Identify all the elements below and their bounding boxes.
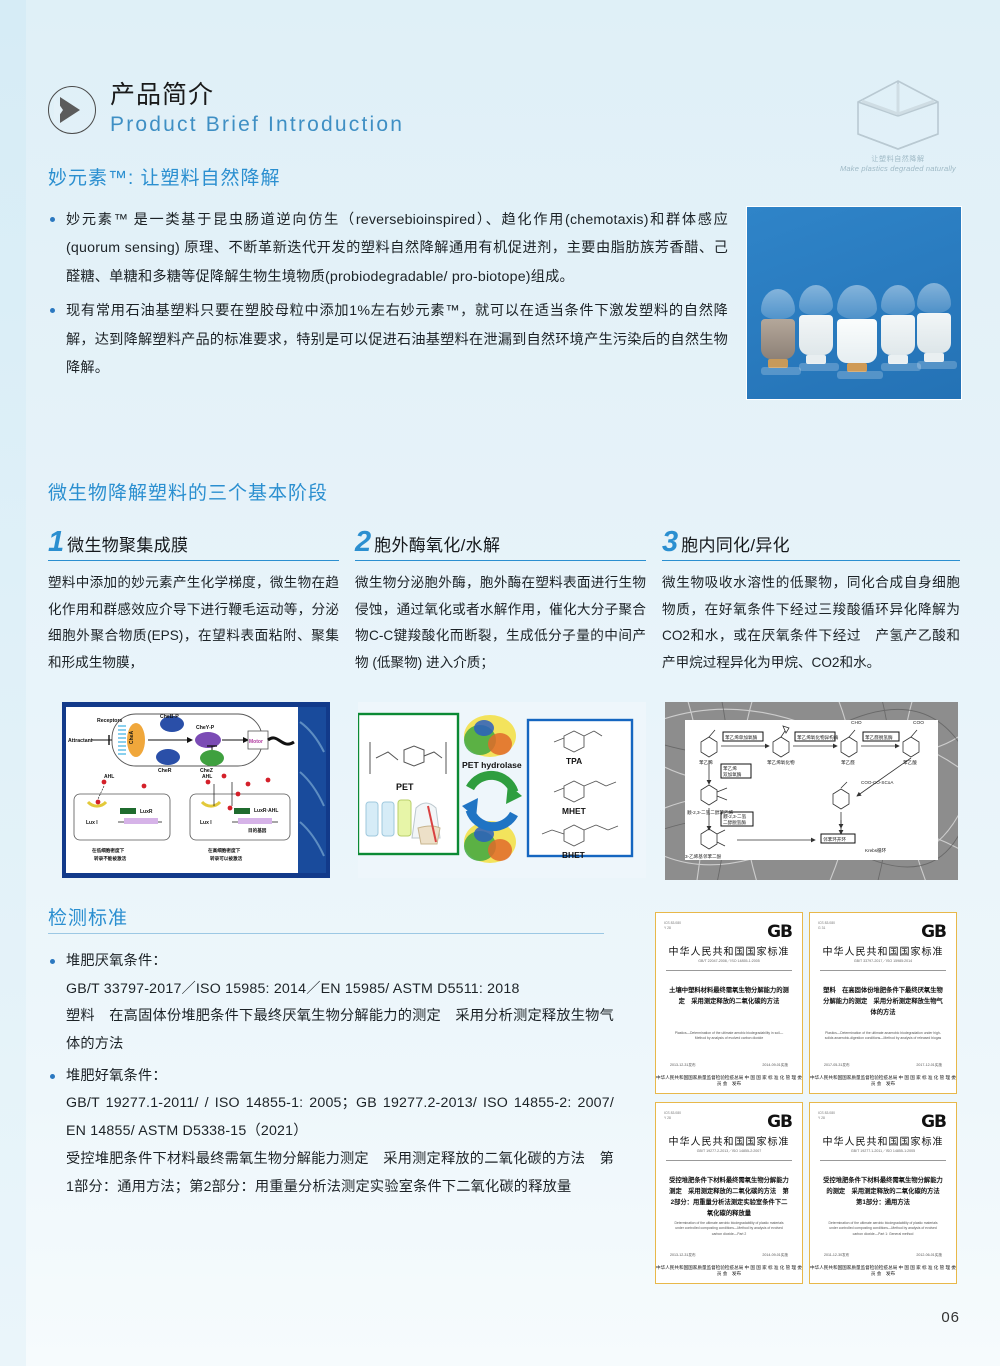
cert-nation: 中华人民共和国国家标准 [656, 1133, 802, 1148]
gb-logo-icon: GB [767, 1112, 792, 1132]
intro-bullet-list: 妙元素™ 是一类基于昆虫肠道逆向仿生（reversebioinspired）、趋… [48, 206, 728, 388]
cert-title-en: Determination of the ultimate aerobic bi… [824, 1221, 942, 1237]
standards-list: 堆肥厌氧条件： GB/T 33797-2017／ISO 15985: 2014／… [48, 948, 614, 1207]
certificate-card: ICS 83.080G 31 GB 中华人民共和国国家标准 GB/T 33797… [809, 912, 957, 1094]
gb-logo-icon: GB [921, 922, 946, 942]
svg-text:在低细胞密度下: 在低细胞密度下 [92, 847, 125, 854]
brochure-page: 产品简介 Product Brief Introduction 让塑料自然降解 … [0, 0, 1000, 1366]
standard-title: 堆肥厌氧条件： [66, 948, 614, 976]
play-arrow-circle-icon [48, 86, 96, 134]
stage-column-2: 2 胞外酶氧化/水解 微生物分泌胞外酶，胞外酶在塑料表面进行生物侵蚀，通过氧化或… [355, 528, 646, 676]
svg-text:Krebs循环: Krebs循环 [865, 847, 887, 854]
svg-text:CheY-P: CheY-P [196, 725, 215, 731]
svg-text:在高细胞密度下: 在高细胞密度下 [208, 847, 241, 854]
cert-top-code: ICS 83.080Y 28 [818, 1111, 835, 1121]
svg-text:Receptors: Receptors [97, 718, 122, 724]
cert-title-en: Plastics—Determination of the ultimate a… [670, 1031, 788, 1042]
gb-logo-icon: GB [921, 1112, 946, 1132]
stage-title: 微生物聚集成膜 [67, 531, 188, 556]
cert-top-code: ICS 83.080Y 28 [664, 921, 681, 931]
stage-number: 2 [355, 528, 371, 557]
cert-effective-date: 2012-06-01实施 [916, 1253, 942, 1258]
stage-title: 胞内同化/异化 [681, 531, 790, 556]
standard-title: 堆肥好氧条件： [66, 1063, 614, 1091]
svg-text:PET: PET [396, 782, 414, 792]
cert-top-code: ICS 83.080Y 28 [664, 1111, 681, 1121]
logo-tagline-en: Make plastics degraded naturally [832, 164, 964, 173]
cert-publisher: 中华人民共和国国家质量监督检验检疫总局 中 国 国 家 标 准 化 管 理 委 … [810, 1075, 956, 1087]
stage-column-3: 3 胞内同化/异化 微生物吸收水溶性的低聚物，同化合成自身细胞物质，在好氧条件下… [662, 528, 960, 676]
svg-text:苯乙烯: 苯乙烯 [699, 759, 713, 766]
list-item: 堆肥厌氧条件： GB/T 33797-2017／ISO 15985: 2014／… [48, 948, 614, 1059]
list-item: 堆肥好氧条件： GB/T 19277.1-2011/ / ISO 14855-1… [48, 1063, 614, 1201]
cert-code: GB/T 33797-2017／ISO 15985:2014 [810, 959, 956, 964]
svg-text:二醇脱氢酶: 二醇脱氢酶 [723, 819, 746, 826]
standard-desc-line: 塑料 在高固体份堆肥条件下最终厌氧生物分解能力的测定 采用分析测定释放生物气体的… [66, 1003, 614, 1058]
brand-logo: 让塑料自然降解 Make plastics degraded naturally [832, 78, 964, 173]
svg-text:BHET: BHET [562, 850, 586, 860]
cert-publisher: 中华人民共和国国家质量监督检验检疫总局 中 国 国 家 标 准 化 管 理 委 … [656, 1075, 802, 1087]
svg-text:转录不能被激活: 转录不能被激活 [94, 855, 127, 862]
cert-nation: 中华人民共和国国家标准 [810, 943, 956, 958]
page-title-en: Product Brief Introduction [110, 113, 404, 137]
cert-title: 土壤中塑料材料最终需氧生物分解能力的测定 采用测定释放的二氧化碳的方法 [668, 985, 790, 1007]
cert-publisher: 中华人民共和国国家质量监督检验检疫总局 中 国 国 家 标 准 化 管 理 委 … [656, 1265, 802, 1277]
stage-title: 胞外酶氧化/水解 [374, 531, 500, 556]
svg-text:CHO: CHO [851, 720, 862, 726]
cert-effective-date: 2014-09-01实施 [762, 1063, 788, 1068]
svg-text:Attractant: Attractant [68, 738, 93, 744]
stage-body-text: 微生物吸收水溶性的低聚物，同化合成自身细胞物质，在好氧条件下经过三羧酸循环异化降… [662, 570, 960, 676]
svg-text:COO-CO-SCoA: COO-CO-SCoA [861, 780, 894, 785]
stages-heading: 微生物降解塑料的三个基本阶段 [48, 478, 328, 505]
cert-code: GB/T 22047-2008／ISO 14855-1:2005 [656, 959, 802, 964]
page-header: 产品简介 Product Brief Introduction [48, 82, 404, 137]
stage-column-1: 1 微生物聚集成膜 塑料中添加的妙元素产生化学梯度，微生物在趋化作用和群感效应介… [48, 528, 339, 676]
stage-number: 1 [48, 528, 64, 557]
cert-title: 受控堆肥条件下材料最终需氧生物分解能力的测定 采用测定释放的二氧化碳的方法 第1… [822, 1175, 944, 1208]
chemotaxis-quorum-sensing-diagram: CheA Receptors Attractant CheB-P CheR Ch… [62, 702, 330, 878]
gb-logo-icon: GB [767, 922, 792, 942]
svg-text:苯乙烯单加氧酶: 苯乙烯单加氧酶 [725, 734, 758, 741]
svg-text:Lux I: Lux I [200, 820, 212, 826]
intro-bullet-text: 现有常用石油基塑料只要在塑胶母粒中添加1%左右妙元素™，就可以在适当条件下激发塑… [66, 297, 728, 382]
svg-text:CheB-P: CheB-P [160, 714, 179, 720]
svg-text:苯乙烯氧化物: 苯乙烯氧化物 [767, 759, 795, 766]
svg-text:苯乙烯: 苯乙烯 [723, 765, 737, 772]
cert-effective-date: 2017-12-01实施 [916, 1063, 942, 1068]
certificate-card: ICS 83.080Y 28 GB 中华人民共和国国家标准 GB/T 19277… [655, 1102, 803, 1284]
svg-text:TPA: TPA [566, 756, 582, 766]
cert-nation: 中华人民共和国国家标准 [656, 943, 802, 958]
svg-text:邻苯环开环: 邻苯环开环 [823, 836, 846, 843]
svg-text:AHL: AHL [104, 774, 114, 780]
standards-heading: 检测标准 [48, 903, 128, 930]
cert-issued-date: 2013-12-31发布 [670, 1063, 696, 1068]
svg-text:苯乙酸: 苯乙酸 [903, 759, 917, 766]
list-item: 妙元素™ 是一类基于昆虫肠道逆向仿生（reversebioinspired）、趋… [48, 206, 728, 291]
standard-code-line: GB/T 19277.1-2011/ / ISO 14855-1: 2005；G… [66, 1090, 614, 1145]
intro-bullet-text: 妙元素™ 是一类基于昆虫肠道逆向仿生（reversebioinspired）、趋… [66, 206, 728, 291]
certificate-thumbnails: ICS 83.080Y 28 GB 中华人民共和国国家标准 GB/T 22047… [655, 912, 955, 1284]
svg-text:Lux I: Lux I [86, 820, 98, 826]
svg-text:双加氧酶: 双加氧酶 [723, 771, 742, 778]
cert-issued-date: 2011-12-30发布 [824, 1253, 849, 1258]
svg-text:CheA: CheA [129, 731, 135, 744]
stage-body-text: 塑料中添加的妙元素产生化学梯度，微生物在趋化作用和群感效应介导下进行鞭毛运动等，… [48, 570, 339, 676]
stage-number: 3 [662, 528, 678, 557]
cert-issued-date: 2017-05-31发布 [824, 1063, 850, 1068]
intro-heading: 妙元素™: 让塑料自然降解 [48, 163, 281, 190]
cert-code: GB/T 19277.2-2013／ISO 14855-2:2007 [656, 1149, 802, 1154]
svg-text:3-乙烯基邻苯二酚: 3-乙烯基邻苯二酚 [685, 853, 722, 860]
cert-top-code: ICS 83.080G 31 [818, 921, 835, 931]
logo-tagline-cn: 让塑料自然降解 [832, 154, 964, 164]
svg-text:PET hydrolase: PET hydrolase [462, 760, 522, 770]
cert-title: 受控堆肥条件下材料最终需氧生物分解能力测定 采用测定释放的二氧化碳的方法 第2部… [668, 1175, 790, 1219]
cert-code: GB/T 19277.1-2011／ISO 14855-1:2005 [810, 1149, 956, 1154]
svg-text:苯乙醛脱氢酶: 苯乙醛脱氢酶 [865, 734, 893, 741]
standard-code-line: GB/T 33797-2017／ISO 15985: 2014／EN 15985… [66, 976, 614, 1004]
svg-text:COO: COO [913, 720, 924, 726]
certificate-card: ICS 83.080Y 28 GB 中华人民共和国国家标准 GB/T 19277… [809, 1102, 957, 1284]
list-item: 现有常用石油基塑料只要在塑胶母粒中添加1%左右妙元素™，就可以在适当条件下激发塑… [48, 297, 728, 382]
standards-heading-rule [48, 933, 604, 934]
svg-text:AHL: AHL [202, 774, 212, 780]
svg-text:顺-2,3-二氢二醇苯乙烯: 顺-2,3-二氢二醇苯乙烯 [687, 809, 734, 816]
cert-title-en: Determination of the ultimate aerobic bi… [670, 1221, 788, 1237]
svg-text:苯乙醛: 苯乙醛 [841, 759, 855, 766]
metabolic-pathway-diagram: 苯乙烯单加氧酶 苯乙烯氧化物异构酶 苯乙醛脱氢酶 苯乙烯双加氧酶 顺-2,3-二… [665, 702, 958, 880]
product-photo [746, 206, 962, 400]
cert-issued-date: 2013-12-31发布 [670, 1253, 696, 1258]
page-title: 产品简介 [110, 82, 404, 108]
svg-text:LuxR: LuxR [140, 809, 153, 815]
stage-body-text: 微生物分泌胞外酶，胞外酶在塑料表面进行生物侵蚀，通过氧化或者水解作用，催化大分子… [355, 570, 646, 676]
standard-desc-line: 受控堆肥条件下材料最终需氧生物分解能力测定 采用测定释放的二氧化碳的方法 第1部… [66, 1146, 614, 1201]
svg-text:Motor: Motor [249, 739, 263, 745]
cert-title-en: Plastics—Determination of the ultimate a… [824, 1031, 942, 1042]
cert-nation: 中华人民共和国国家标准 [810, 1133, 956, 1148]
svg-text:LuxR·AHL: LuxR·AHL [254, 808, 278, 814]
pet-hydrolase-cycle-diagram: PET PET hydrolase [358, 702, 646, 878]
hexagon-cube-logo-icon [850, 78, 946, 152]
certificate-card: ICS 83.080Y 28 GB 中华人民共和国国家标准 GB/T 22047… [655, 912, 803, 1094]
cert-publisher: 中华人民共和国国家质量监督检验检疫总局 中 国 国 家 标 准 化 管 理 委 … [810, 1265, 956, 1277]
cert-effective-date: 2014-09-01实施 [762, 1253, 788, 1258]
svg-text:苯乙烯氧化物异构酶: 苯乙烯氧化物异构酶 [797, 734, 839, 741]
svg-text:目的基因: 目的基因 [248, 827, 267, 834]
page-number: 06 [941, 1309, 960, 1326]
cert-title: 塑料 在高固体份堆肥条件下最终厌氧生物分解能力的测定 采用分析测定释放生物气体的… [822, 985, 944, 1018]
svg-text:CheR: CheR [158, 768, 172, 774]
svg-text:转录可以被激活: 转录可以被激活 [210, 855, 243, 862]
svg-text:MHET: MHET [562, 806, 587, 816]
